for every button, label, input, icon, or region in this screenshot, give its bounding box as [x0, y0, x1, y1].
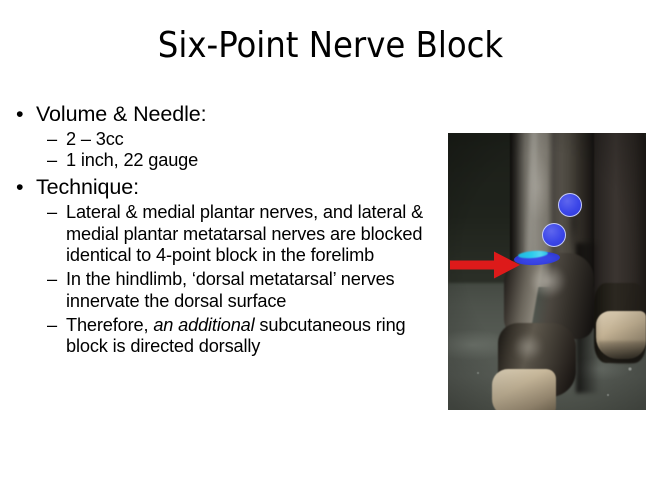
bullet-text: Technique: — [36, 175, 139, 199]
bullet-dorsal-metatarsal: – In the hindlimb, ‘dorsal metatarsal’ n… — [10, 269, 435, 312]
bullet-marker: – — [47, 269, 57, 290]
bullet-text: Lateral & medial plantar nerves, and lat… — [66, 202, 435, 266]
bullet-ring-block: – Therefore, an additional subcutaneous … — [10, 315, 435, 358]
bullet-text-prefix: Therefore, — [66, 315, 153, 335]
bullet-plantar-nerves: – Lateral & medial plantar nerves, and l… — [10, 202, 435, 266]
page-title: Six-Point Nerve Block — [0, 26, 661, 66]
content-placeholder: • Volume & Needle: – 2 – 3cc – 1 inch, 2… — [10, 101, 435, 357]
bullet-marker: • — [16, 101, 23, 128]
bullet-text-emphasis: an additional — [153, 315, 254, 335]
bullet-text: Volume & Needle: — [36, 102, 207, 126]
bullet-text: Therefore, an additional subcutaneous ri… — [66, 315, 435, 358]
bullet-marker: – — [47, 150, 57, 171]
bullet-text: In the hindlimb, ‘dorsal metatarsal’ ner… — [66, 269, 435, 312]
bullet-text: 1 inch, 22 gauge — [66, 150, 435, 171]
bullet-dose: – 2 – 3cc — [10, 129, 435, 150]
bullet-marker: – — [47, 129, 57, 150]
bullet-needle-size: – 1 inch, 22 gauge — [10, 150, 435, 171]
bullet-text: 2 – 3cc — [66, 129, 435, 150]
bullet-technique: • Technique: — [10, 174, 435, 201]
bullet-marker: – — [47, 202, 57, 223]
slide-canvas: Six-Point Nerve Block • Volume & Needle:… — [0, 0, 661, 491]
bullet-volume-needle: • Volume & Needle: — [10, 101, 435, 128]
limb-photograph — [448, 133, 646, 410]
red-arrow-icon — [450, 250, 522, 280]
blue-marker-dot-lower-icon — [542, 223, 566, 247]
bullet-marker: – — [47, 315, 57, 336]
bullet-marker: • — [16, 174, 23, 201]
blue-marker-dot-upper-icon — [558, 193, 582, 217]
